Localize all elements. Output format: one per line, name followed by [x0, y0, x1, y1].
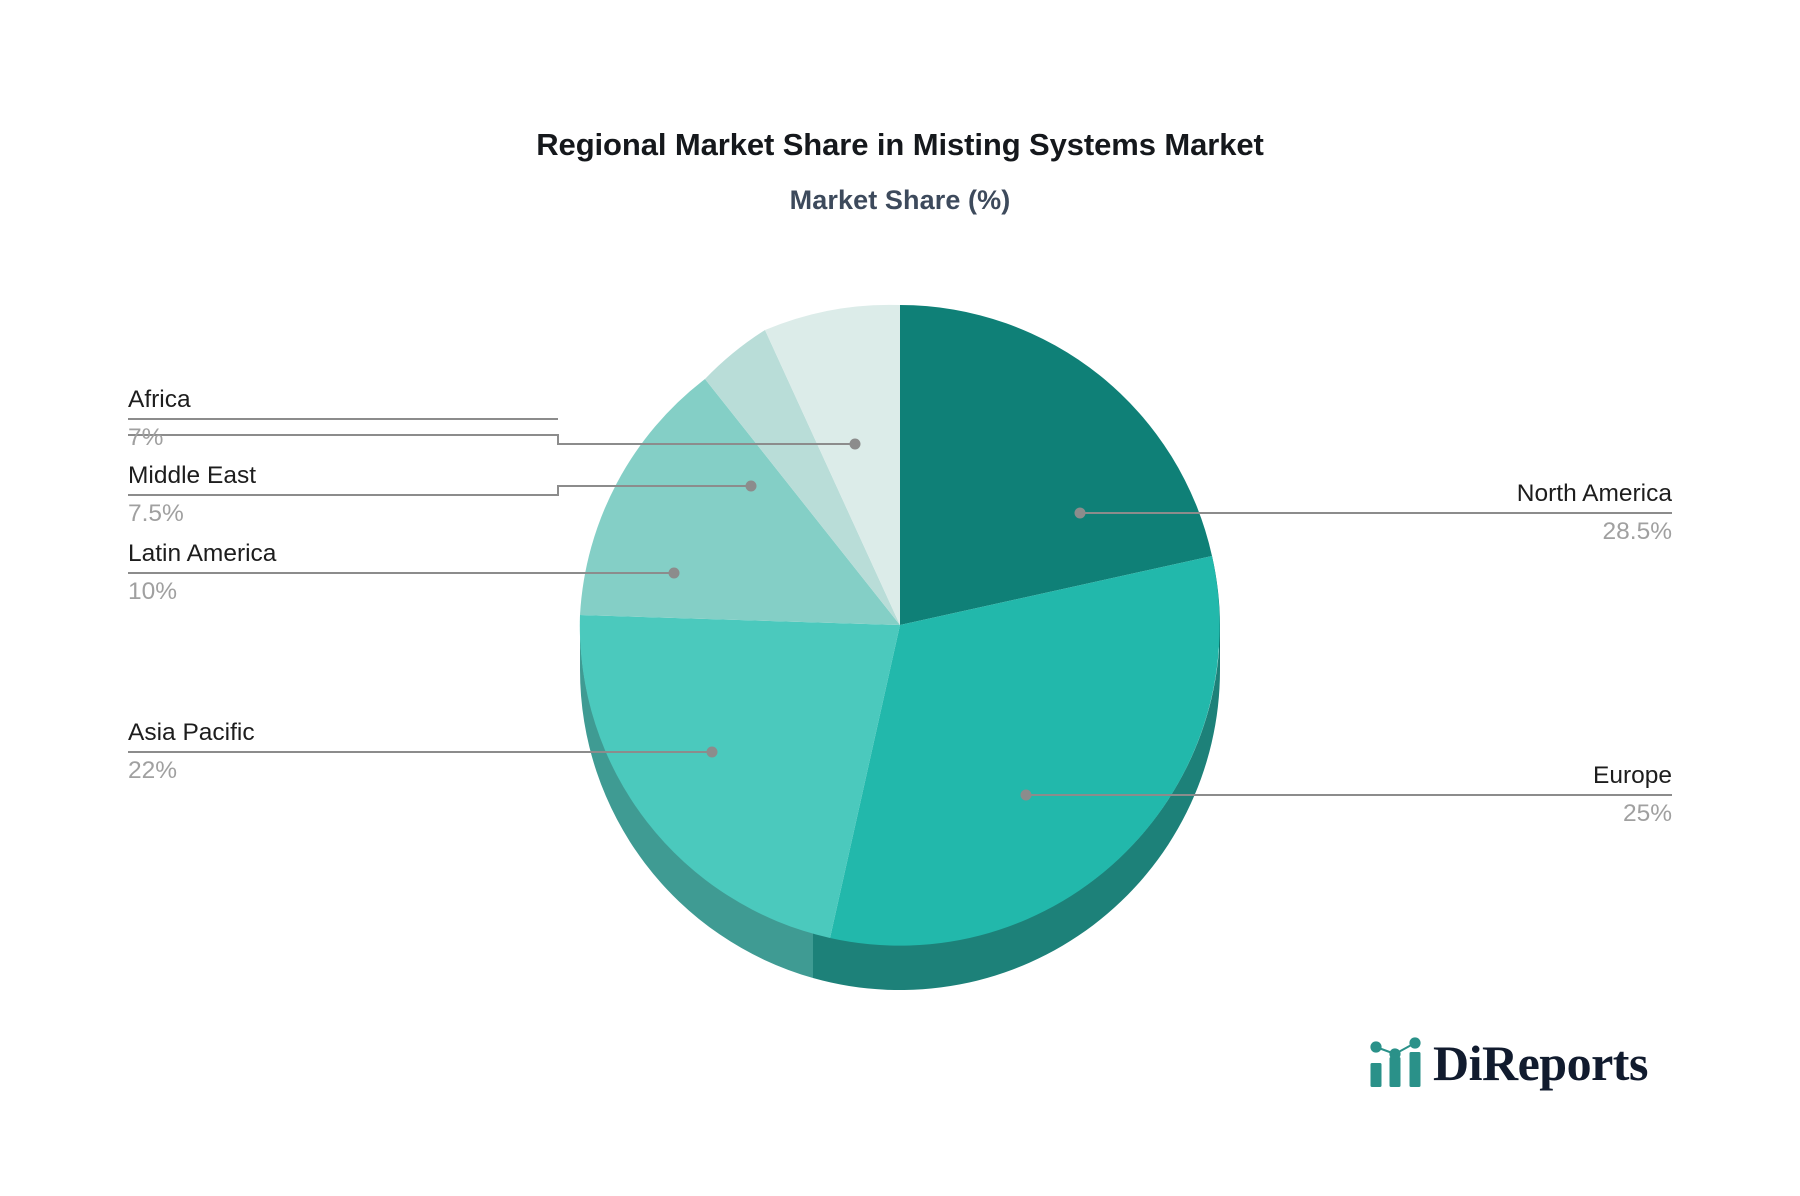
callout-middle-east-value: 7.5% — [128, 499, 558, 529]
callout-asia-pacific-rule — [128, 751, 558, 753]
pie-slices — [580, 305, 1220, 946]
callout-europe-rule — [1242, 794, 1672, 796]
callout-north-america-rule — [1242, 512, 1672, 514]
logo-wordmark: DiReports — [1433, 1038, 1648, 1088]
callout-europe: Europe 25% — [1242, 761, 1672, 829]
callout-africa-rule — [128, 418, 558, 420]
callout-africa-label: Africa — [128, 385, 558, 415]
callout-europe-label: Europe — [1242, 761, 1672, 791]
callout-middle-east: Middle East 7.5% — [128, 461, 558, 529]
callout-latin-america-rule — [128, 572, 558, 574]
leader-dot-africa — [850, 439, 861, 450]
bar-chart-icon — [1368, 1036, 1424, 1088]
direports-logo: DiReports — [1368, 1036, 1648, 1088]
callout-middle-east-rule — [128, 494, 558, 496]
callout-north-america: North America 28.5% — [1242, 479, 1672, 547]
leader-dot-europe — [1021, 790, 1032, 801]
callout-latin-america-value: 10% — [128, 577, 558, 607]
leader-dot-middle-east — [746, 481, 757, 492]
callout-asia-pacific-value: 22% — [128, 756, 558, 786]
callout-africa: Africa 7% — [128, 385, 558, 453]
leader-dot-latin-america — [669, 568, 680, 579]
callout-north-america-value: 28.5% — [1242, 517, 1672, 547]
callout-north-america-label: North America — [1242, 479, 1672, 509]
callout-latin-america-label: Latin America — [128, 539, 558, 569]
leader-dot-north-america — [1075, 508, 1086, 519]
callout-latin-america: Latin America 10% — [128, 539, 558, 607]
callout-africa-value: 7% — [128, 423, 558, 453]
callout-europe-value: 25% — [1242, 799, 1672, 829]
callout-middle-east-label: Middle East — [128, 461, 558, 491]
leader-dot-asia-pacific — [707, 747, 718, 758]
chart-root: Regional Market Share in Misting Systems… — [0, 0, 1800, 1196]
callout-asia-pacific: Asia Pacific 22% — [128, 718, 558, 786]
callout-asia-pacific-label: Asia Pacific — [128, 718, 558, 748]
